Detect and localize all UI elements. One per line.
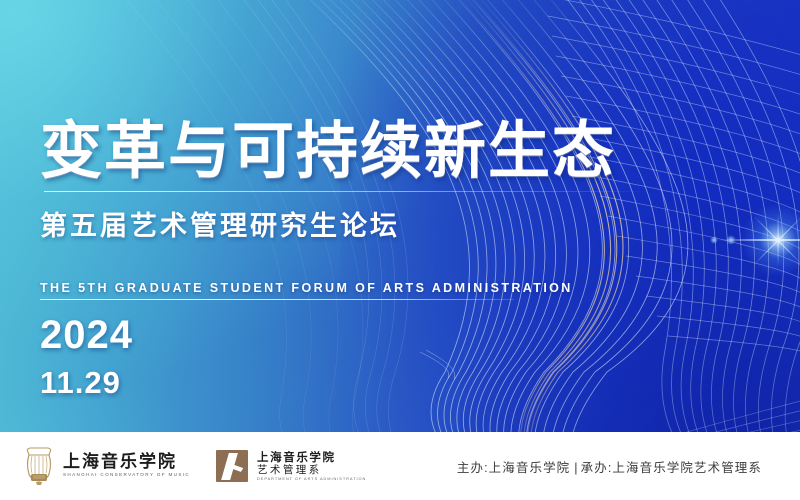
english-title-block: THE 5TH GRADUATE STUDENT FORUM OF ARTS A… <box>40 281 573 300</box>
footer-bar: 上海音乐学院 SHANGHAI CONSERVATORY OF MUSIC 上海… <box>0 432 800 500</box>
event-poster: 变革与可持续新生态 第五届艺术管理研究生论坛 THE 5TH GRADUATE … <box>0 0 800 500</box>
logo-shanghai-conservatory-text: 上海音乐学院 SHANGHAI CONSERVATORY OF MUSIC <box>63 454 190 478</box>
sub-title: 第五届艺术管理研究生论坛 <box>40 204 400 243</box>
logo-cn-name-line2: 艺术管理系 <box>257 465 366 476</box>
title-block: 变革与可持续新生态 <box>40 118 616 184</box>
footer-credit: 主办:上海音乐学院|承办:上海音乐学院艺术管理系 <box>457 457 778 476</box>
arts-administration-mark-icon <box>216 450 248 482</box>
logo-arts-administration: 上海音乐学院 艺术管理系 DEPARTMENT OF ARTS ADMINIST… <box>216 450 366 482</box>
logo-cn-name-line1: 上海音乐学院 <box>257 451 366 463</box>
logo-en-name-department: DEPARTMENT OF ARTS ADMINISTRATION <box>257 477 366 481</box>
logo-en-name: SHANGHAI CONSERVATORY OF MUSIC <box>63 473 190 478</box>
footer-co-organizer: 承办:上海音乐学院艺术管理系 <box>581 461 762 475</box>
lyre-emblem-icon <box>24 446 54 486</box>
date-year: 2024 <box>40 315 133 355</box>
title-underline-rule <box>44 191 644 192</box>
main-title: 变革与可持续新生态 <box>40 118 616 184</box>
logo-shanghai-conservatory: 上海音乐学院 SHANGHAI CONSERVATORY OF MUSIC <box>24 446 190 486</box>
footer-organizer: 主办:上海音乐学院 <box>457 461 570 475</box>
poster-content: 变革与可持续新生态 第五届艺术管理研究生论坛 THE 5TH GRADUATE … <box>0 0 800 500</box>
footer-logo-group: 上海音乐学院 SHANGHAI CONSERVATORY OF MUSIC 上海… <box>24 446 366 486</box>
logo-arts-administration-text: 上海音乐学院 艺术管理系 DEPARTMENT OF ARTS ADMINIST… <box>257 451 366 481</box>
english-title: THE 5TH GRADUATE STUDENT FORUM OF ARTS A… <box>40 281 573 295</box>
logo-cn-name: 上海音乐学院 <box>63 454 190 471</box>
footer-credit-separator: | <box>570 461 580 475</box>
english-title-underline <box>40 299 514 300</box>
date-day: 11.29 <box>40 367 133 398</box>
date-block: 2024 11.29 <box>40 315 133 398</box>
